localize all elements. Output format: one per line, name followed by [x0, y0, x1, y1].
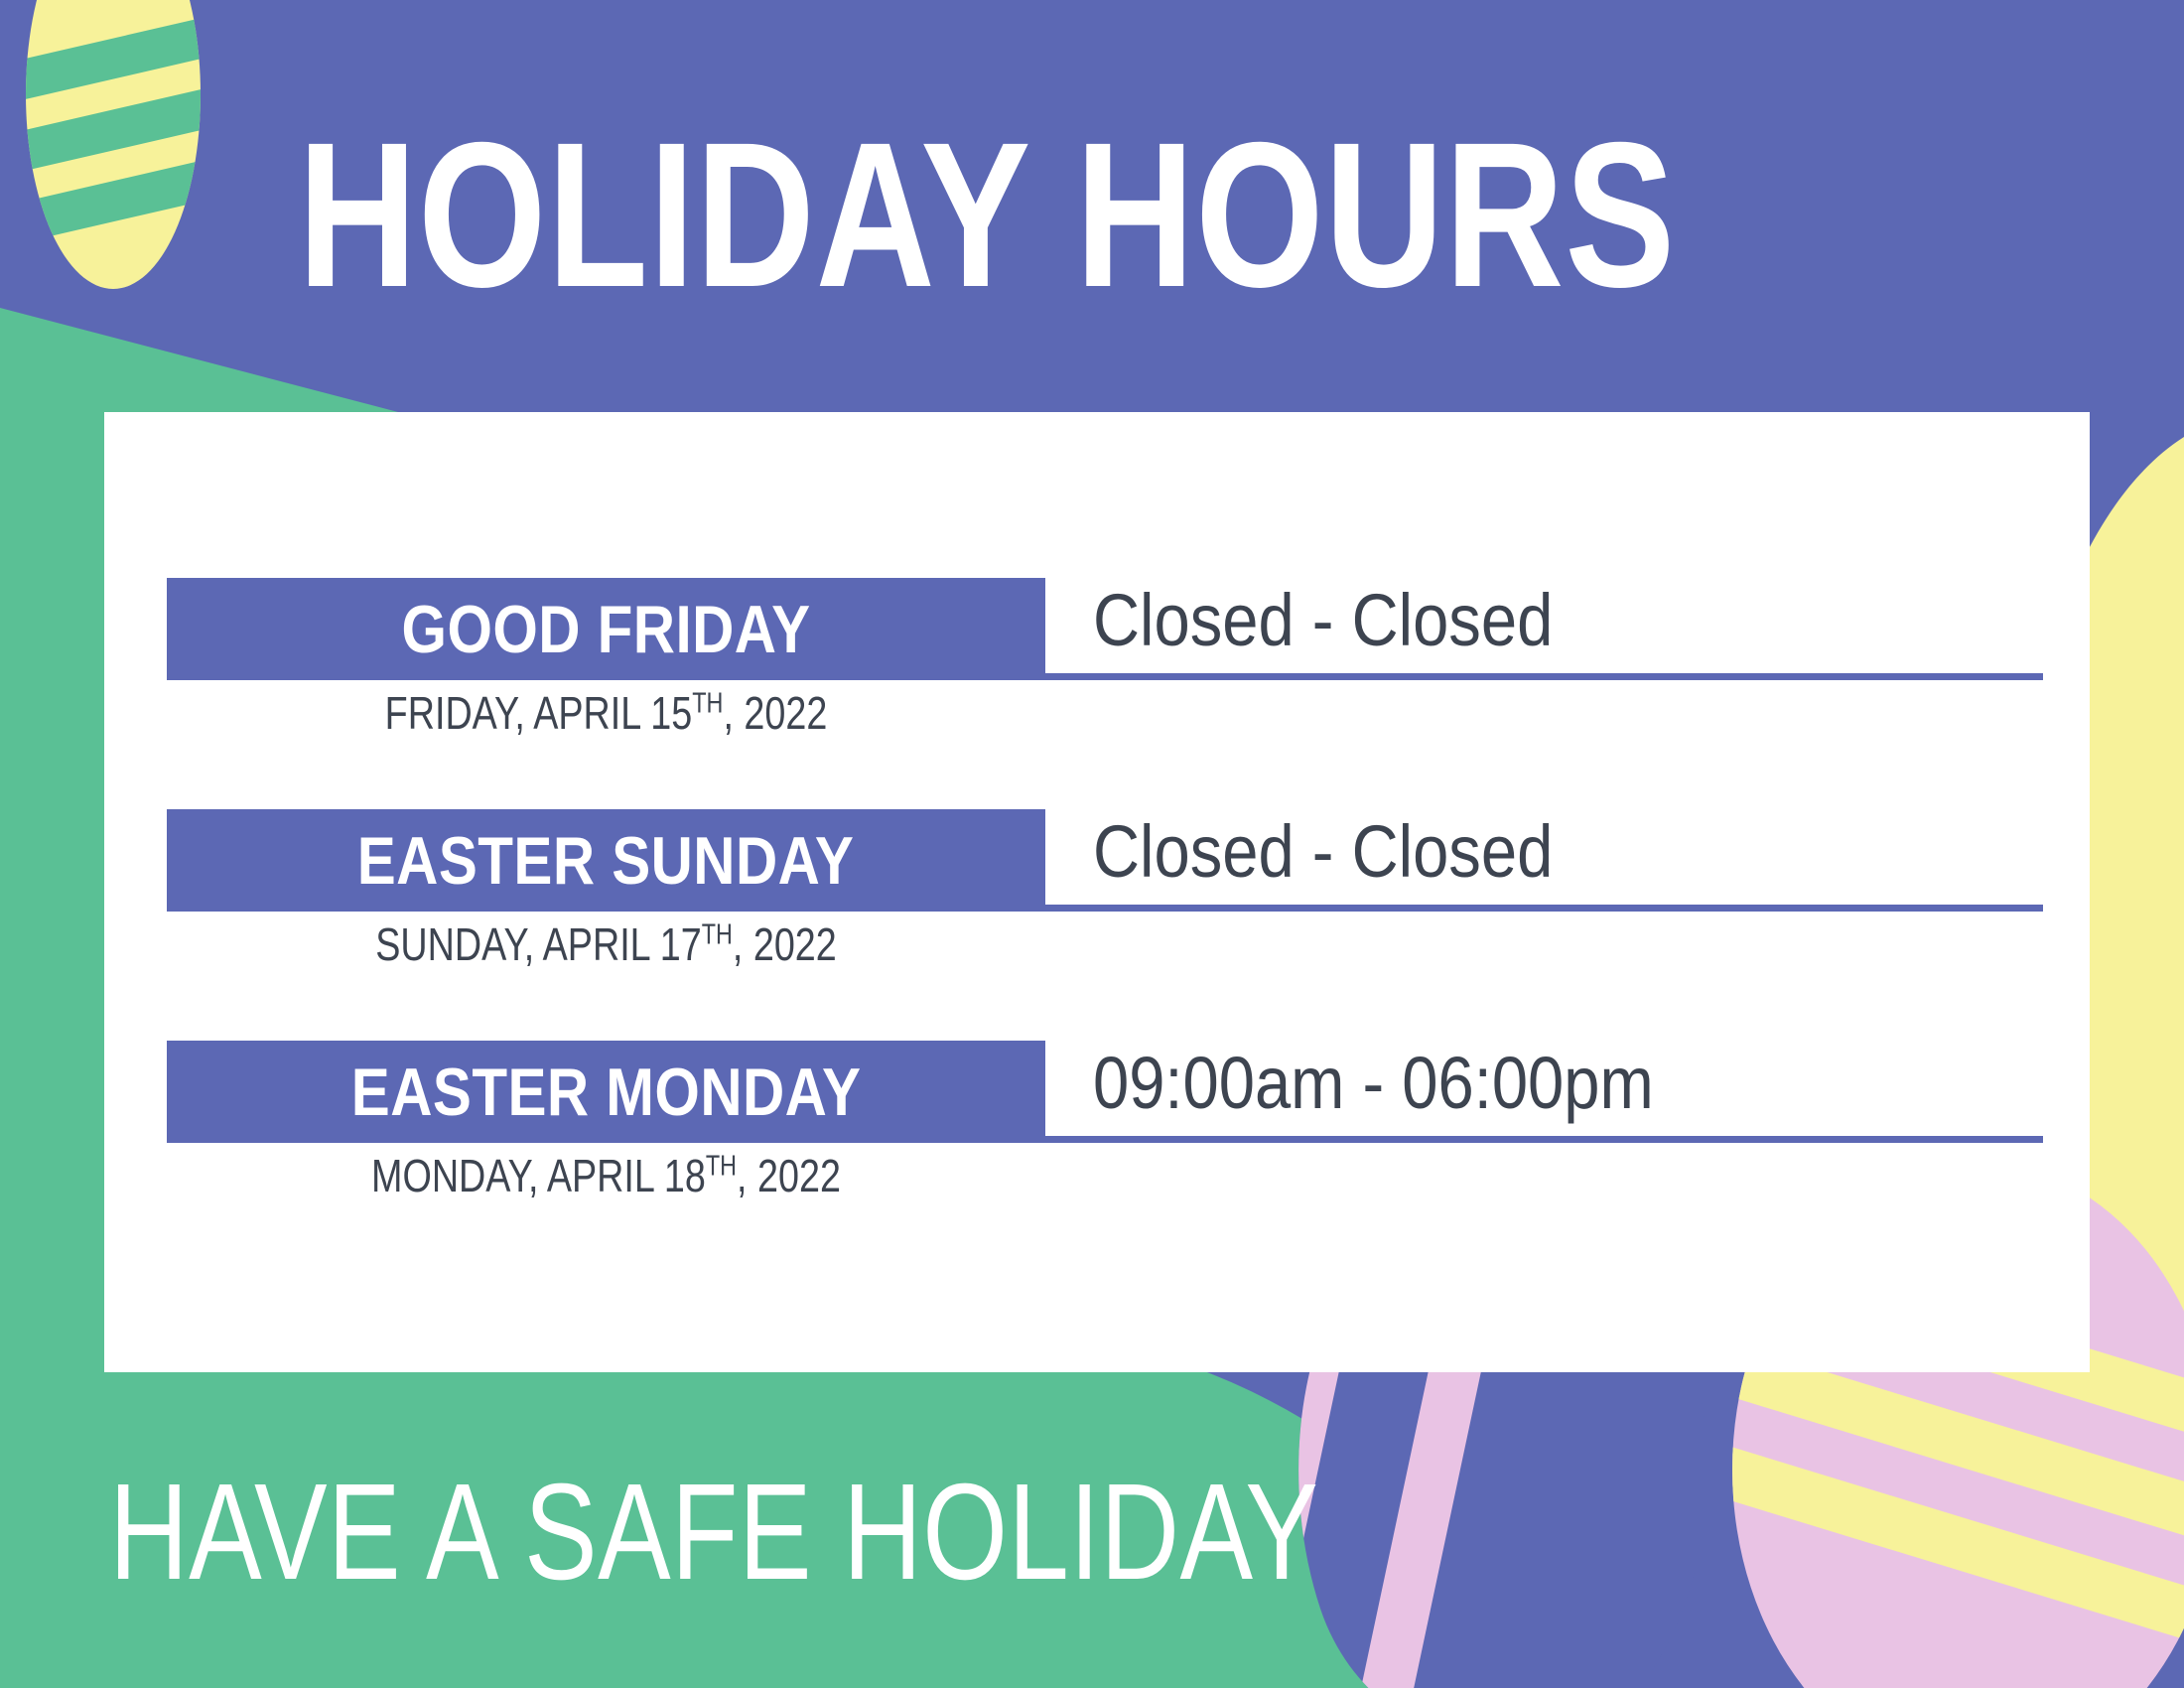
- holiday-date-ordinal: TH: [702, 919, 733, 951]
- holiday-date-ordinal: TH: [706, 1151, 737, 1183]
- holiday-date-prefix: MONDAY, APRIL 18: [371, 1150, 706, 1201]
- holiday-hours-field: Closed - Closed: [1045, 578, 2043, 680]
- holiday-hours-poster: HOLIDAY HOURS GOOD FRIDAY FRIDAY, APRIL …: [0, 0, 2184, 1688]
- holiday-name-bar: EASTER SUNDAY: [167, 809, 1045, 912]
- holiday-date: FRIDAY, APRIL 15TH, 2022: [246, 680, 967, 746]
- holiday-hours-field: Closed - Closed: [1045, 809, 2043, 912]
- holiday-date: MONDAY, APRIL 18TH, 2022: [246, 1143, 967, 1208]
- holiday-hours: Closed - Closed: [1093, 568, 1553, 673]
- holiday-date-year: , 2022: [733, 918, 837, 970]
- hours-underline: [1045, 1136, 2043, 1143]
- footer-message: HAVE A SAFE HOLIDAY: [109, 1462, 1318, 1603]
- holiday-date-prefix: SUNDAY, APRIL 17: [375, 918, 701, 970]
- holiday-hours: Closed - Closed: [1093, 799, 1553, 905]
- holiday-hours-field: 09:00am - 06:00pm: [1045, 1041, 2043, 1143]
- holiday-date-prefix: FRIDAY, APRIL 15: [385, 687, 693, 739]
- holiday-name: EASTER MONDAY: [351, 1056, 862, 1128]
- holiday-hours: 09:00am - 06:00pm: [1093, 1031, 1654, 1136]
- hours-underline: [1045, 673, 2043, 680]
- hours-underline: [1045, 905, 2043, 912]
- holiday-name: EASTER SUNDAY: [357, 825, 855, 897]
- page-title: HOLIDAY HOURS: [298, 111, 1767, 320]
- holiday-name: GOOD FRIDAY: [402, 594, 811, 665]
- holiday-date-ordinal: TH: [692, 688, 723, 720]
- schedule-card: GOOD FRIDAY FRIDAY, APRIL 15TH, 2022 Clo…: [104, 412, 2090, 1372]
- holiday-date-year: , 2022: [723, 687, 827, 739]
- holiday-date: SUNDAY, APRIL 17TH, 2022: [246, 912, 967, 977]
- holiday-date-year: , 2022: [737, 1150, 841, 1201]
- holiday-name-bar: EASTER MONDAY: [167, 1041, 1045, 1143]
- holiday-name-bar: GOOD FRIDAY: [167, 578, 1045, 680]
